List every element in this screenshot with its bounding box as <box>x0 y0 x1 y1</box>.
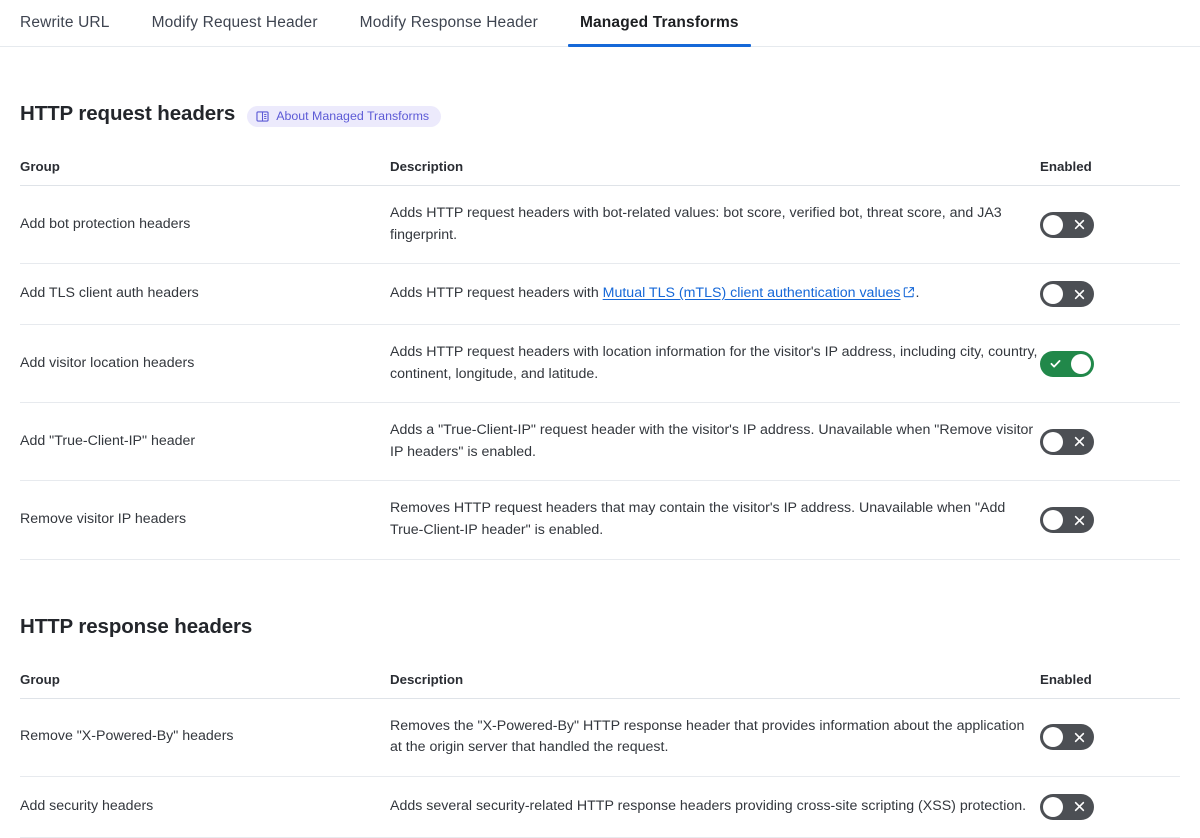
row-description: Removes the "X-Powered-By" HTTP response… <box>390 698 1040 776</box>
table-row: Remove visitor IP headers Removes HTTP r… <box>20 481 1180 559</box>
tab-modify-request-header[interactable]: Modify Request Header <box>152 0 318 46</box>
tab-modify-response-header[interactable]: Modify Response Header <box>360 0 538 46</box>
toggle-knob <box>1071 354 1091 374</box>
mtls-client-auth-link[interactable]: Mutual TLS (mTLS) client authentication … <box>603 285 901 301</box>
table-row: Add "True-Client-IP" header Adds a "True… <box>20 403 1180 481</box>
row-group-name: Remove visitor IP headers <box>20 481 390 559</box>
row-group-name: Add "True-Client-IP" header <box>20 403 390 481</box>
about-managed-transforms-badge[interactable]: About Managed Transforms <box>247 106 441 127</box>
row-group-name: Add visitor location headers <box>20 325 390 403</box>
table-header-row: Group Description Enabled <box>20 159 1180 186</box>
row-group-name: Add bot protection headers <box>20 186 390 264</box>
close-icon <box>1066 724 1092 750</box>
row-description: Adds HTTP request headers with Mutual TL… <box>390 264 1040 325</box>
toggle-knob <box>1043 432 1063 452</box>
column-header-enabled: Enabled <box>1040 672 1180 699</box>
page-title-request: HTTP request headers <box>20 102 235 126</box>
toggle-add-tls-client-auth-headers[interactable] <box>1040 281 1094 307</box>
row-enabled-cell <box>1040 264 1180 325</box>
column-header-enabled: Enabled <box>1040 159 1180 186</box>
table-header-row: Group Description Enabled <box>20 672 1180 699</box>
http-response-headers-section: HTTP response headers Group Description … <box>0 598 1200 838</box>
close-icon <box>1066 429 1092 455</box>
row-enabled-cell <box>1040 325 1180 403</box>
row-enabled-cell <box>1040 481 1180 559</box>
row-enabled-cell <box>1040 186 1180 264</box>
description-prefix: Adds HTTP request headers with <box>390 285 603 301</box>
row-enabled-cell <box>1040 403 1180 481</box>
transform-rules-tabbar: Rewrite URL Modify Request Header Modify… <box>0 0 1200 47</box>
table-row: Add bot protection headers Adds HTTP req… <box>20 186 1180 264</box>
toggle-knob <box>1043 215 1063 235</box>
close-icon <box>1066 281 1092 307</box>
row-description: Adds HTTP request headers with location … <box>390 325 1040 403</box>
toggle-knob <box>1043 284 1063 304</box>
close-icon <box>1066 507 1092 533</box>
toggle-remove-visitor-ip-headers[interactable] <box>1040 507 1094 533</box>
tab-rewrite-url[interactable]: Rewrite URL <box>20 0 110 46</box>
row-description: Adds HTTP request headers with bot-relat… <box>390 186 1040 264</box>
row-description: Removes HTTP request headers that may co… <box>390 481 1040 559</box>
table-row: Add TLS client auth headers Adds HTTP re… <box>20 264 1180 325</box>
book-icon <box>256 110 269 123</box>
close-icon <box>1066 794 1092 820</box>
toggle-remove-x-powered-by-headers[interactable] <box>1040 724 1094 750</box>
column-header-group: Group <box>20 672 390 699</box>
column-header-group: Group <box>20 159 390 186</box>
request-section-header: HTTP request headers About Managed Trans… <box>20 85 1180 143</box>
response-headers-table: Group Description Enabled Remove "X-Powe… <box>20 672 1180 838</box>
description-suffix: . <box>915 285 919 301</box>
row-enabled-cell <box>1040 698 1180 776</box>
about-managed-transforms-label: About Managed Transforms <box>276 110 429 122</box>
toggle-add-true-client-ip-header[interactable] <box>1040 429 1094 455</box>
row-group-name: Remove "X-Powered-By" headers <box>20 698 390 776</box>
http-request-headers-section: HTTP request headers About Managed Trans… <box>0 85 1200 560</box>
tab-managed-transforms[interactable]: Managed Transforms <box>580 0 739 46</box>
row-description: Adds a "True-Client-IP" request header w… <box>390 403 1040 481</box>
page-title-response: HTTP response headers <box>20 615 252 639</box>
row-enabled-cell <box>1040 776 1180 837</box>
toggle-knob <box>1043 727 1063 747</box>
toggle-knob <box>1043 797 1063 817</box>
response-section-header: HTTP response headers <box>20 598 1180 656</box>
close-icon <box>1066 212 1092 238</box>
external-link-icon <box>903 284 915 306</box>
table-row: Add visitor location headers Adds HTTP r… <box>20 325 1180 403</box>
row-description: Adds several security-related HTTP respo… <box>390 776 1040 837</box>
table-row: Add security headers Adds several securi… <box>20 776 1180 837</box>
toggle-add-visitor-location-headers[interactable] <box>1040 351 1094 377</box>
row-group-name: Add security headers <box>20 776 390 837</box>
check-icon <box>1042 351 1068 377</box>
row-group-name: Add TLS client auth headers <box>20 264 390 325</box>
toggle-add-security-headers[interactable] <box>1040 794 1094 820</box>
column-header-description: Description <box>390 159 1040 186</box>
table-row: Remove "X-Powered-By" headers Removes th… <box>20 698 1180 776</box>
request-headers-table: Group Description Enabled Add bot protec… <box>20 159 1180 560</box>
toggle-knob <box>1043 510 1063 530</box>
toggle-add-bot-protection-headers[interactable] <box>1040 212 1094 238</box>
column-header-description: Description <box>390 672 1040 699</box>
